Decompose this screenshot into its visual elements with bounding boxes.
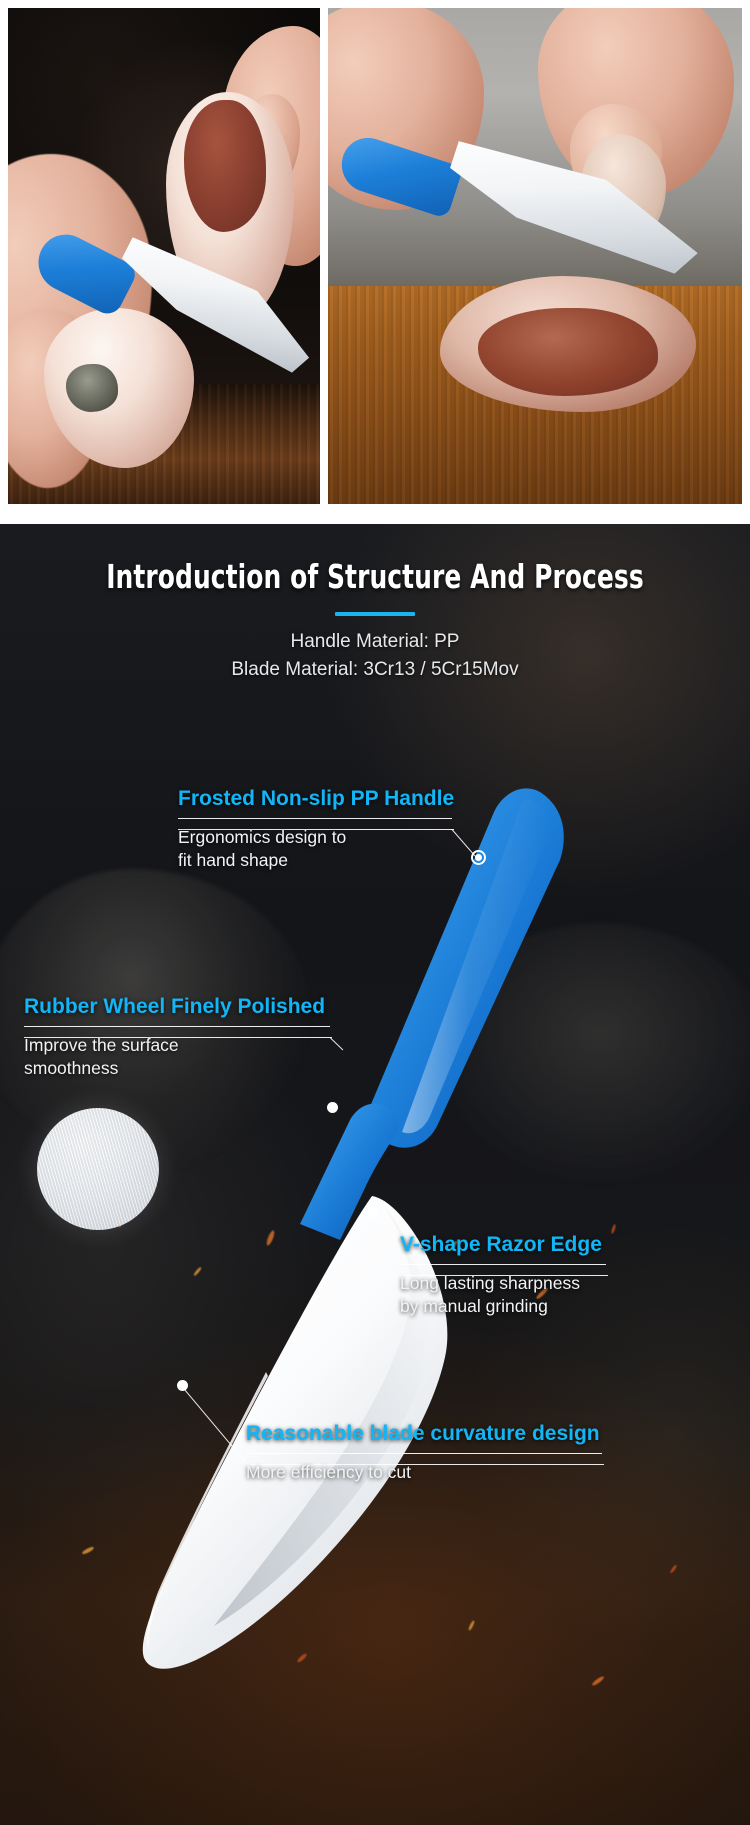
callout-description: Ergonomics design to fit hand shape — [178, 826, 454, 873]
joint-socket — [66, 364, 118, 412]
anvil-silhouette-secondary — [430, 924, 750, 1184]
callout-description: Long lasting sharpness by manual grindin… — [400, 1272, 606, 1319]
knife-cutting-bone-photo — [8, 8, 320, 504]
title-divider — [335, 612, 415, 616]
structure-and-process-section: Introduction of Structure And Process Ha… — [0, 524, 750, 1825]
callout-title: Frosted Non-slip PP Handle — [178, 786, 454, 811]
section-title: Introduction of Structure And Process — [60, 560, 690, 595]
callout-dot-curvature — [177, 1380, 188, 1391]
callout-description: Improve the surface smoothness — [24, 1034, 330, 1081]
callout-underline — [400, 1264, 606, 1265]
knife-trimming-pork-photo — [328, 8, 742, 504]
callout-blade-curvature: Reasonable blade curvature design More e… — [246, 1421, 602, 1484]
callout-underline — [24, 1026, 330, 1027]
callout-description: More efficiency to cut — [246, 1461, 602, 1484]
product-photo-strip — [0, 0, 750, 512]
meat-tissue — [184, 100, 266, 232]
callout-razor-edge: V-shape Razor Edge Long lasting sharpnes… — [400, 1232, 606, 1319]
callout-title: V-shape Razor Edge — [400, 1232, 606, 1257]
callout-dot-razor-edge — [367, 1207, 378, 1218]
callout-underline — [246, 1453, 602, 1454]
callout-dot-handle — [471, 850, 486, 865]
pork-meat — [478, 308, 658, 396]
callout-rubber-wheel: Rubber Wheel Finely Polished Improve the… — [24, 994, 330, 1081]
section-heading-block: Introduction of Structure And Process Ha… — [0, 560, 750, 684]
polished-surface-sample — [37, 1108, 159, 1230]
blade-material-spec: Blade Material: 3Cr13 / 5Cr15Mov — [0, 656, 750, 684]
callout-underline — [178, 818, 452, 819]
handle-material-spec: Handle Material: PP — [0, 628, 750, 656]
callout-title: Rubber Wheel Finely Polished — [24, 994, 330, 1019]
callout-title: Reasonable blade curvature design — [246, 1421, 602, 1446]
callout-frosted-handle: Frosted Non-slip PP Handle Ergonomics de… — [178, 786, 454, 873]
product-detail-page: Introduction of Structure And Process Ha… — [0, 0, 750, 1825]
callout-dot-rubber-wheel — [327, 1102, 338, 1113]
